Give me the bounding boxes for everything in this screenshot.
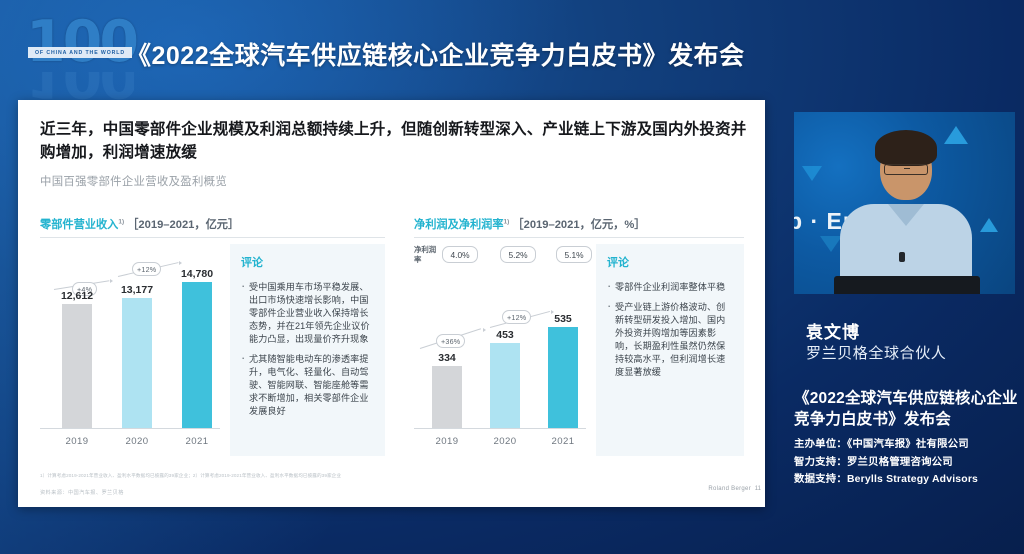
speaker-video[interactable]: p · Empathy · (794, 112, 1015, 294)
event-title: 《2022全球汽车供应链核心企业竞争力白皮书》发布会 (794, 388, 1020, 430)
panel-revenue-title: 零部件营业收入1) ［2019–2021，亿元］ (40, 216, 385, 232)
xtick-2021: 2021 (176, 436, 218, 447)
net-margin-row: 净利润率 4.0% 5.2% 5.1% (414, 244, 592, 270)
speaker-role: 罗兰贝格全球合伙人 (806, 342, 946, 363)
profit-growth-badge-2020: +36% (436, 334, 465, 348)
commentary-revenue-list: 受中国乘用车市场平稳发展、出口市场快速增长影响，中国零部件企业营业收入保持增长态… (241, 281, 374, 418)
microphone-icon (899, 252, 905, 262)
panel-profit-footnote-ref: 1) (504, 218, 510, 225)
chart-profit: 净利润率 4.0% 5.2% 5.1% +36% +12% (414, 244, 592, 452)
profit-growth-badge-2021: +12% (502, 310, 531, 324)
trend-arrow-1 (110, 279, 113, 283)
credit-knowledge-partner: 智力支持：罗兰贝格管理咨询公司 (794, 454, 1022, 472)
logo-tagline-bar: OF CHINA AND THE WORLD (28, 47, 132, 58)
logo-tagline: OF CHINA AND THE WORLD (35, 50, 125, 56)
decor-triangle-icon (820, 236, 842, 252)
xtick-2020: 2020 (116, 436, 158, 447)
chart-revenue-axis (40, 428, 220, 429)
commentary-revenue-heading: 评论 (241, 254, 374, 270)
profit-bar-2021-rect (548, 327, 578, 428)
bar-2021-rect (182, 282, 212, 428)
decor-triangle-icon (944, 126, 968, 144)
profit-bar-2020-value: 453 (496, 329, 514, 341)
credit-data-partner: 数据支持：Berylls Strategy Advisors (794, 471, 1022, 489)
commentary-profit-list: 零部件企业利润率整体平稳 受产业链上游价格波动、创新转型研发投入增加、国内外投资… (607, 281, 733, 379)
net-margin-2020: 5.2% (500, 246, 536, 263)
slide-canvas: 近三年，中国零部件企业规模及利润总额持续上升，但随创新转型深入、产业链上下游及国… (18, 100, 765, 507)
chart-profit-axis (414, 428, 586, 429)
bar-2019-rect (62, 304, 92, 428)
slide-header: 近三年，中国零部件企业规模及利润总额持续上升，但随创新转型深入、产业链上下游及国… (40, 118, 747, 189)
laptop-icon (834, 276, 980, 294)
decor-triangle-icon (802, 166, 822, 181)
profit-growth-badge-2020-label: +36% (441, 337, 460, 346)
profit-bar-2020-rect (490, 343, 520, 428)
profit-bar-2019-rect (432, 366, 462, 428)
logo-100: 100 OF CHINA AND THE WORLD 100 (26, 14, 134, 94)
bar-2020-rect (122, 298, 152, 428)
profit-xtick-2020: 2020 (484, 436, 526, 447)
xtick-2019: 2019 (56, 436, 98, 447)
commentary-profit: 评论 零部件企业利润率整体平稳 受产业链上游价格波动、创新转型研发投入增加、国内… (596, 244, 744, 456)
slide-subtitle: 中国百强零部件企业营收及盈利概览 (40, 173, 747, 189)
commentary-profit-item: 零部件企业利润率整体平稳 (607, 281, 733, 294)
panel-profit: 净利润及净利润率1) ［2019–2021，亿元，%］ 净利润率 4.0% 5.… (414, 216, 744, 461)
panel-revenue-divider (40, 237, 385, 238)
panel-profit-divider (414, 237, 744, 238)
panel-profit-title: 净利润及净利润率1) ［2019–2021，亿元，%］ (414, 216, 744, 232)
panel-profit-unit: ［2019–2021，亿元，%］ (512, 219, 645, 231)
profit-growth-badge-2021-label: +12% (507, 313, 526, 322)
glasses-icon (884, 164, 928, 175)
trend-arrow-2 (179, 261, 182, 265)
commentary-revenue-item: 受中国乘用车市场平稳发展、出口市场快速增长影响，中国零部件企业营业收入保持增长态… (241, 281, 374, 346)
deck-title: 《2022全球汽车供应链核心企业竞争力白皮书》发布会 (126, 36, 745, 72)
profit-bar-2019-value: 334 (438, 352, 456, 364)
commentary-revenue: 评论 受中国乘用车市场平稳发展、出口市场快速增长影响，中国零部件企业营业收入保持… (230, 244, 385, 456)
roland-berger-logo: Roland Berger (708, 486, 751, 492)
profit-xtick-2021: 2021 (542, 436, 584, 447)
logo-number: 100 (26, 14, 134, 70)
speaker-name: 袁文博 (806, 318, 860, 343)
net-margin-2021: 5.1% (556, 246, 592, 263)
commentary-profit-item: 受产业链上游价格波动、创新转型研发投入增加、国内外投资并购增加等因素影响，长期盈… (607, 301, 733, 379)
presentation-stage: 100 OF CHINA AND THE WORLD 100 《2022全球汽车… (0, 0, 1024, 554)
panel-profit-title-text: 净利润及净利润率 (414, 219, 504, 231)
slide-title: 近三年，中国零部件企业规模及利润总额持续上升，但随创新转型深入、产业链上下游及国… (40, 118, 747, 164)
credit-organizer: 主办单位：《中国汽车报》社有限公司 (794, 436, 1022, 454)
panel-revenue-title-text: 零部件营业收入 (40, 219, 118, 231)
commentary-profit-heading: 评论 (607, 254, 733, 270)
speaker-rail: p · Empathy · 袁文博 罗兰贝格全球合伙人 《2022全球汽车供应链… (780, 0, 1024, 554)
panel-profit-body: 净利润率 4.0% 5.2% 5.1% +36% +12% (414, 244, 744, 456)
growth-badge-2021-label: +12% (137, 265, 156, 274)
header: 100 OF CHINA AND THE WORLD 100 《2022全球汽车… (0, 0, 780, 98)
panel-revenue-footnote-ref: 1) (118, 218, 124, 225)
panel-revenue: 零部件营业收入1) ［2019–2021，亿元］ +4% +12% (40, 216, 385, 461)
profit-bar-2021-value: 535 (554, 313, 572, 325)
chart-revenue: +4% +12% 12,612 13,177 (40, 244, 226, 452)
speaker-hair (875, 130, 937, 166)
growth-badge-2021: +12% (132, 262, 161, 276)
panel-revenue-unit: ［2019–2021，亿元］ (127, 219, 239, 231)
slide-page-number: 11 (755, 486, 761, 492)
net-margin-label: 净利润率 (414, 245, 440, 264)
profit-xtick-2019: 2019 (426, 436, 468, 447)
bar-2019-value: 12,612 (61, 290, 93, 302)
commentary-revenue-item: 尤其随智能电动车的渗透率提升，电气化、轻量化、自动驾驶、智能网联、智能座舱等需求… (241, 353, 374, 418)
net-margin-2019: 4.0% (442, 246, 478, 263)
event-credits: 主办单位：《中国汽车报》社有限公司 智力支持：罗兰贝格管理咨询公司 数据支持：B… (794, 436, 1022, 489)
bar-2021-value: 14,780 (181, 268, 213, 280)
profit-trend-arrow-1 (483, 328, 486, 332)
bar-2020-value: 13,177 (121, 284, 153, 296)
slide-source: 资料来源：中国汽车报、罗兰贝格 (40, 489, 124, 496)
panel-revenue-body: +4% +12% 12,612 13,177 (40, 244, 385, 456)
slide-footnote: 1）计算考虑2019-2021年营业收入、盈利水平数据均已披露的39家企业；2）… (40, 472, 747, 480)
